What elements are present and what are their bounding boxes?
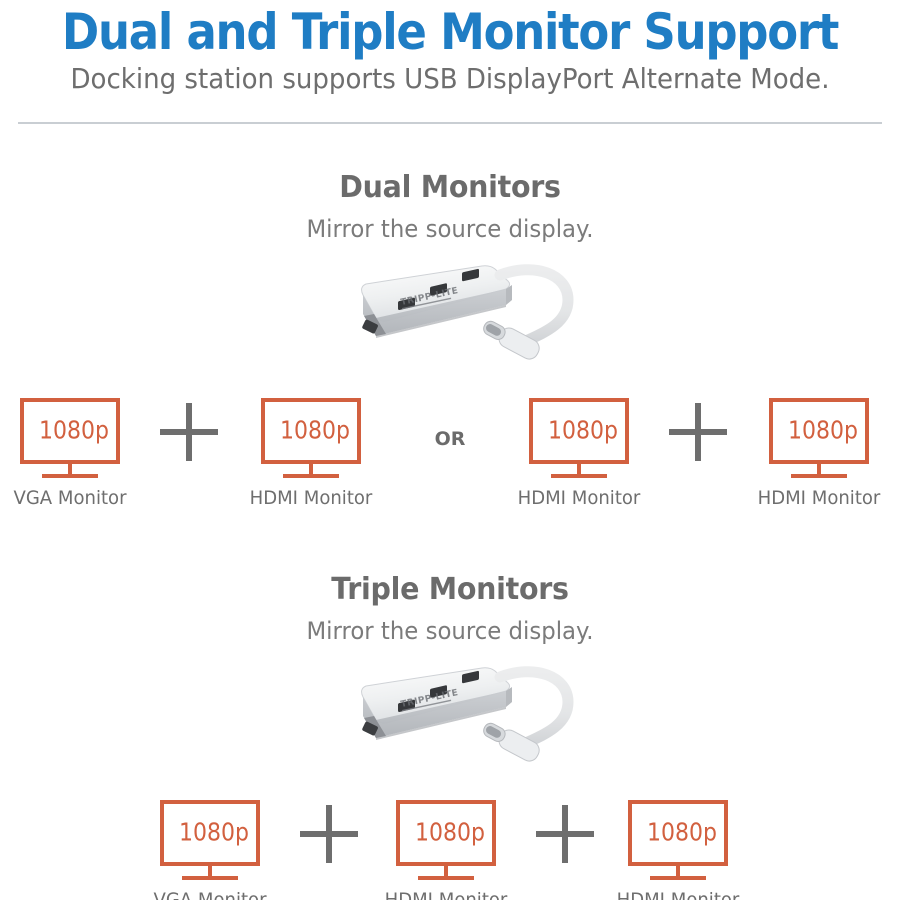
or-separator-label: OR [420,428,480,450]
dual-section-subtitle: Mirror the source display. [23,214,878,244]
docking-station-image-triple: TRIPP-LITE [330,650,590,782]
plus-vertical-bar [562,805,568,863]
monitor-label: HDMI Monitor [241,486,382,510]
plus-vertical-bar [695,403,701,461]
plus-vertical-bar [326,805,332,863]
monitor-label: HDMI Monitor [376,888,517,900]
monitor-screen: 1080p [160,800,260,866]
monitor-stand-base [418,876,474,880]
monitor-stand-base [283,474,339,478]
monitor-stand-base [551,474,607,478]
monitor-hdmi-dual-left-2: 1080p HDMI Monitor [261,398,365,464]
monitor-screen: 1080p [769,398,869,464]
monitor-label: HDMI Monitor [749,486,890,510]
monitor-hdmi-triple-3: 1080p HDMI Monitor [628,800,732,866]
monitor-resolution: 1080p [539,417,627,443]
page-subtitle: Docking station supports USB DisplayPort… [32,62,869,96]
monitor-screen: 1080p [529,398,629,464]
monitor-resolution: 1080p [30,417,118,443]
monitor-screen: 1080p [261,398,361,464]
dual-section-title: Dual Monitors [23,170,878,206]
plus-separator-icon-1 [160,403,218,461]
monitor-vga-dual-left: 1080p VGA Monitor [20,398,124,464]
monitor-label: VGA Monitor [140,888,281,900]
plus-separator-icon-4 [536,805,594,863]
monitor-resolution: 1080p [170,819,258,845]
header-divider [18,122,882,124]
monitor-screen: 1080p [396,800,496,866]
monitor-resolution: 1080p [779,417,867,443]
monitor-stand-base [182,876,238,880]
monitor-stand-base [791,474,847,478]
monitor-resolution: 1080p [406,819,494,845]
triple-section-title: Triple Monitors [23,572,878,608]
monitor-screen: 1080p [628,800,728,866]
page-title: Dual and Triple Monitor Support [45,4,855,60]
triple-section-subtitle: Mirror the source display. [23,616,878,646]
plus-separator-icon-2 [669,403,727,461]
monitor-stand-base [650,876,706,880]
monitor-resolution: 1080p [271,417,359,443]
monitor-stand-base [42,474,98,478]
monitor-label: HDMI Monitor [608,888,749,900]
monitor-resolution: 1080p [638,819,726,845]
monitor-vga-triple-1: 1080p VGA Monitor [160,800,264,866]
monitor-screen: 1080p [20,398,120,464]
plus-separator-icon-3 [300,805,358,863]
monitor-hdmi-dual-right-1: 1080p HDMI Monitor [529,398,633,464]
monitor-label: VGA Monitor [0,486,140,510]
infographic-page: Dual and Triple Monitor Support Docking … [0,0,900,900]
monitor-hdmi-dual-right-2: 1080p HDMI Monitor [769,398,873,464]
docking-station-image-dual: TRIPP-LITE [330,248,590,380]
plus-vertical-bar [186,403,192,461]
monitor-hdmi-triple-2: 1080p HDMI Monitor [396,800,500,866]
monitor-label: HDMI Monitor [509,486,650,510]
